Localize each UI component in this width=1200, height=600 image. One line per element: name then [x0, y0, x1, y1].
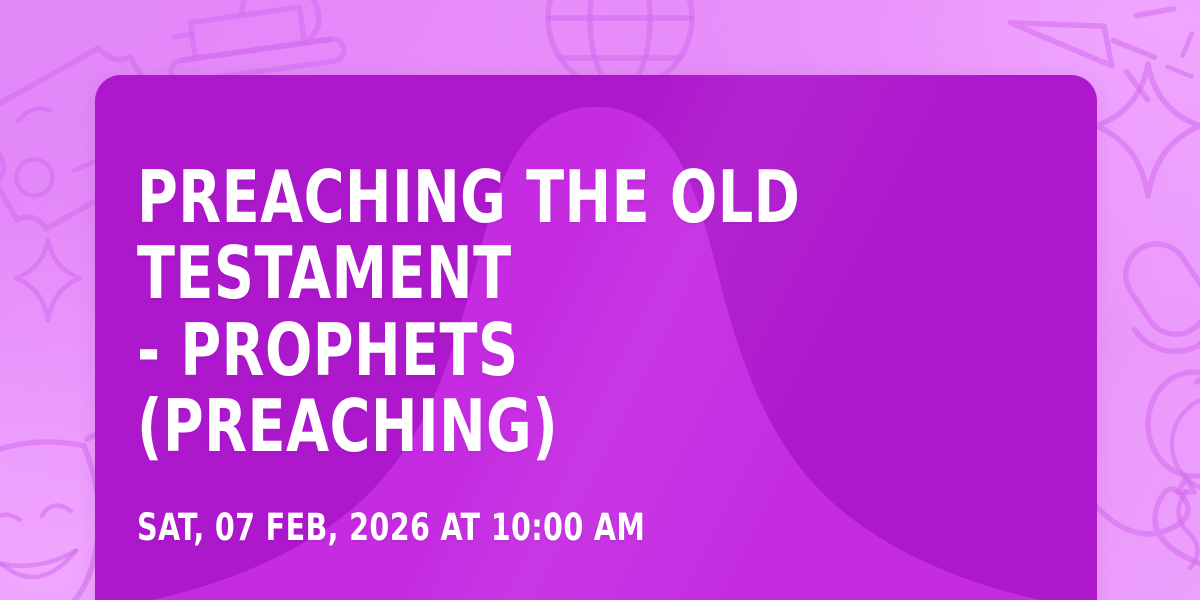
event-datetime: SAT, 07 FEB, 2026 AT 10:00 AM [137, 508, 926, 549]
event-card: PREACHING THE OLD TESTAMENT - PROPHETS (… [95, 75, 1097, 600]
event-title: PREACHING THE OLD TESTAMENT - PROPHETS (… [137, 159, 926, 464]
card-content: PREACHING THE OLD TESTAMENT - PROPHETS (… [137, 159, 1055, 549]
